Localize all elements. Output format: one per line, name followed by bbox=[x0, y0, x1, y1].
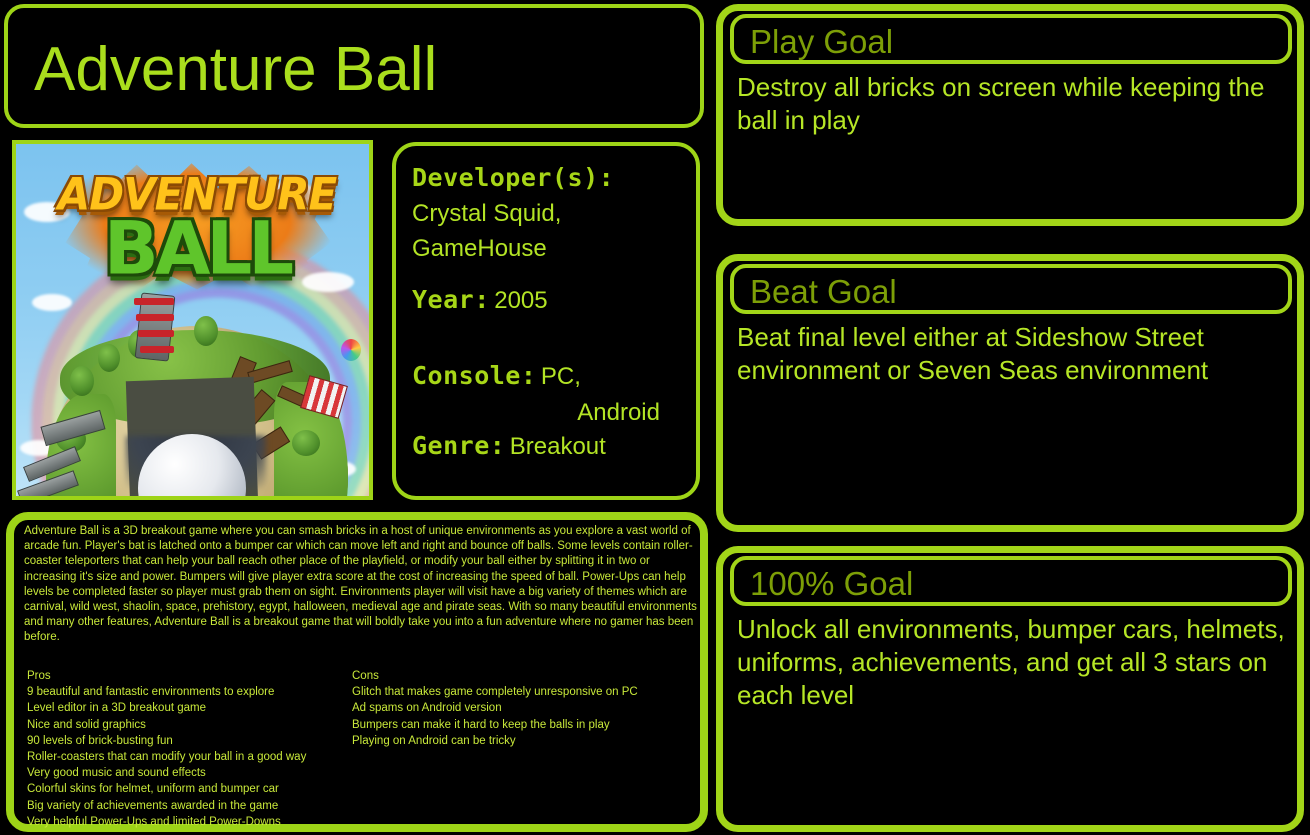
spacer bbox=[412, 320, 682, 360]
play-goal-panel: Play Goal Destroy all bricks on screen w… bbox=[716, 4, 1304, 226]
list-item: Ad spams on Android version bbox=[352, 700, 692, 716]
console-row: Console: PC, bbox=[412, 360, 682, 396]
genre-label: Genre: bbox=[412, 431, 505, 460]
hundred-percent-goal-body: Unlock all environments, bumper cars, he… bbox=[737, 613, 1289, 712]
developer-value-row-2: GameHouse bbox=[412, 233, 682, 268]
hundred-percent-goal-header: 100% Goal bbox=[730, 556, 1292, 606]
list-item: Roller-coasters that can modify your bal… bbox=[27, 749, 357, 765]
list-item: 9 beautiful and fantastic environments t… bbox=[27, 684, 357, 700]
list-item: Colorful skins for helmet, uniform and b… bbox=[27, 781, 357, 797]
list-item: Nice and solid graphics bbox=[27, 717, 357, 733]
tree-icon bbox=[292, 430, 320, 456]
hundred-percent-goal-panel: 100% Goal Unlock all environments, bumpe… bbox=[716, 546, 1304, 832]
list-item: Playing on Android can be tricky bbox=[352, 733, 692, 749]
developer-value: Crystal Squid, bbox=[412, 200, 561, 227]
logo-text-ball: BALL bbox=[52, 205, 342, 291]
balloon-icon bbox=[341, 339, 361, 361]
console-label: Console: bbox=[412, 361, 536, 390]
description-text: Adventure Ball is a 3D breakout game whe… bbox=[24, 524, 700, 646]
box-art-panel: ADVENTURE BALL bbox=[12, 140, 373, 500]
console-value-2: Android bbox=[412, 396, 682, 430]
play-goal-header: Play Goal bbox=[730, 14, 1292, 64]
tree-icon bbox=[194, 316, 218, 346]
list-item: Very good music and sound effects bbox=[27, 765, 357, 781]
beat-goal-body: Beat final level either at Sideshow Stre… bbox=[737, 321, 1289, 387]
page-title: Adventure Ball bbox=[34, 34, 437, 106]
coaster-stripe bbox=[134, 298, 174, 305]
year-row: Year: 2005 bbox=[412, 284, 682, 320]
tree-icon bbox=[98, 344, 120, 372]
tree-icon bbox=[70, 366, 94, 396]
developer-label: Developer(s): bbox=[412, 163, 614, 192]
cons-heading: Cons bbox=[352, 668, 692, 684]
play-goal-body: Destroy all bricks on screen while keepi… bbox=[737, 71, 1289, 137]
coaster-stripe bbox=[136, 314, 174, 321]
pros-column: Pros 9 beautiful and fantastic environme… bbox=[27, 668, 357, 830]
spacer bbox=[412, 268, 682, 284]
console-value: PC, bbox=[541, 363, 581, 390]
developer-row: Developer(s): bbox=[412, 162, 682, 198]
list-item: Very helpful Power-Ups and limited Power… bbox=[27, 814, 357, 830]
coaster-stripe bbox=[140, 346, 174, 353]
game-logo: ADVENTURE BALL bbox=[52, 156, 342, 296]
beat-goal-title: Beat Goal bbox=[750, 272, 897, 312]
box-art-image: ADVENTURE BALL bbox=[16, 144, 369, 496]
play-goal-title: Play Goal bbox=[750, 22, 893, 62]
beat-goal-panel: Beat Goal Beat final level either at Sid… bbox=[716, 254, 1304, 532]
pros-list: 9 beautiful and fantastic environments t… bbox=[27, 684, 357, 830]
genre-value: Breakout bbox=[510, 433, 606, 460]
list-item: Bumpers can make it hard to keep the bal… bbox=[352, 717, 692, 733]
cloud-icon bbox=[32, 294, 72, 311]
description-panel: Adventure Ball is a 3D breakout game whe… bbox=[6, 512, 708, 832]
year-value: 2005 bbox=[494, 287, 547, 314]
pros-heading: Pros bbox=[27, 668, 357, 684]
year-label: Year: bbox=[412, 285, 490, 314]
cons-column: Cons Glitch that makes game completely u… bbox=[352, 668, 692, 749]
game-title-panel: Adventure Ball bbox=[4, 4, 704, 128]
hundred-percent-goal-title: 100% Goal bbox=[750, 564, 913, 604]
cons-list: Glitch that makes game completely unresp… bbox=[352, 684, 692, 749]
developer-value-row: Crystal Squid, bbox=[412, 198, 682, 233]
developer-value-2: GameHouse bbox=[412, 235, 547, 262]
beat-goal-header: Beat Goal bbox=[730, 264, 1292, 314]
list-item: Level editor in a 3D breakout game bbox=[27, 700, 357, 716]
list-item: Glitch that makes game completely unresp… bbox=[352, 684, 692, 700]
list-item: Big variety of achievements awarded in t… bbox=[27, 798, 357, 814]
genre-row: Genre: Breakout bbox=[412, 430, 682, 466]
game-info-panel: Developer(s): Crystal Squid, GameHouse Y… bbox=[392, 142, 700, 500]
coaster-stripe bbox=[138, 330, 174, 337]
list-item: 90 levels of brick-busting fun bbox=[27, 733, 357, 749]
